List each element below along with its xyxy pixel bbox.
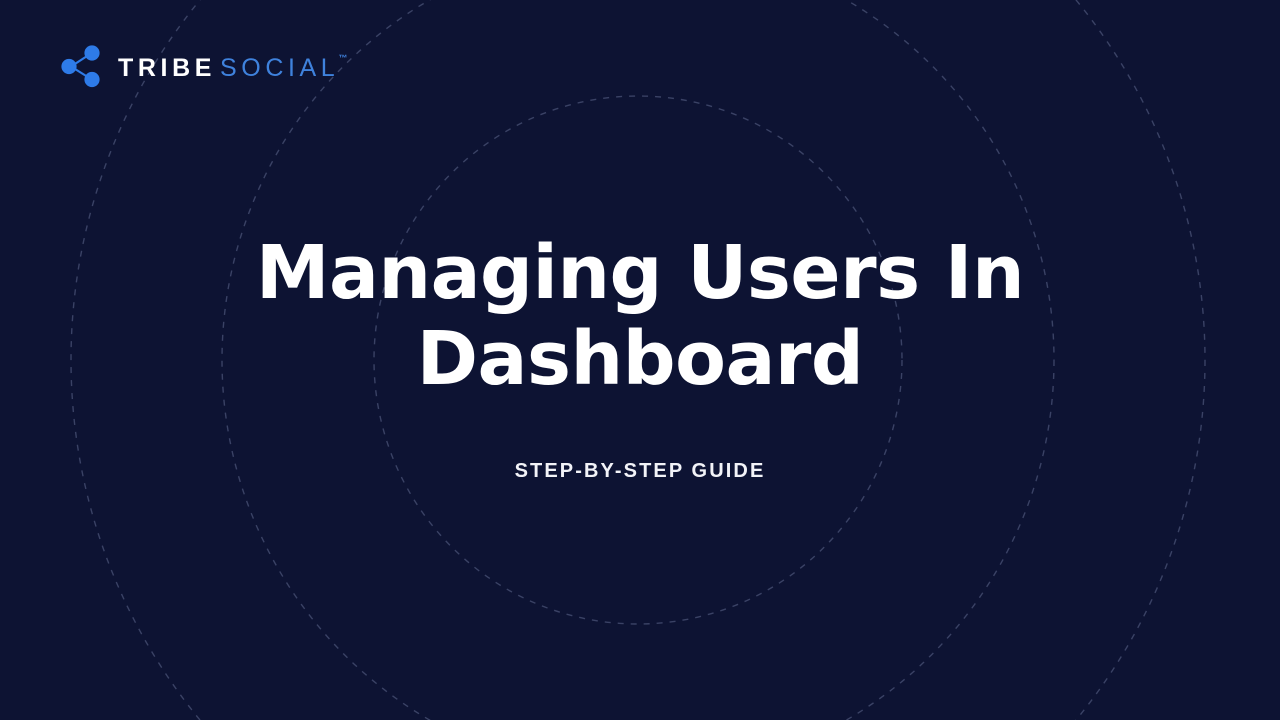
hero-section: Managing Users In Dashboard STEP-BY-STEP… xyxy=(0,0,1280,720)
page-subtitle: STEP-BY-STEP GUIDE xyxy=(190,402,1090,483)
hero-text-block: Managing Users In Dashboard STEP-BY-STEP… xyxy=(190,231,1090,484)
page-title: Managing Users In Dashboard xyxy=(190,231,1090,403)
title-slide: TRIBE SOCIAL ™ Managing Users In Dashboa… xyxy=(0,0,1280,720)
